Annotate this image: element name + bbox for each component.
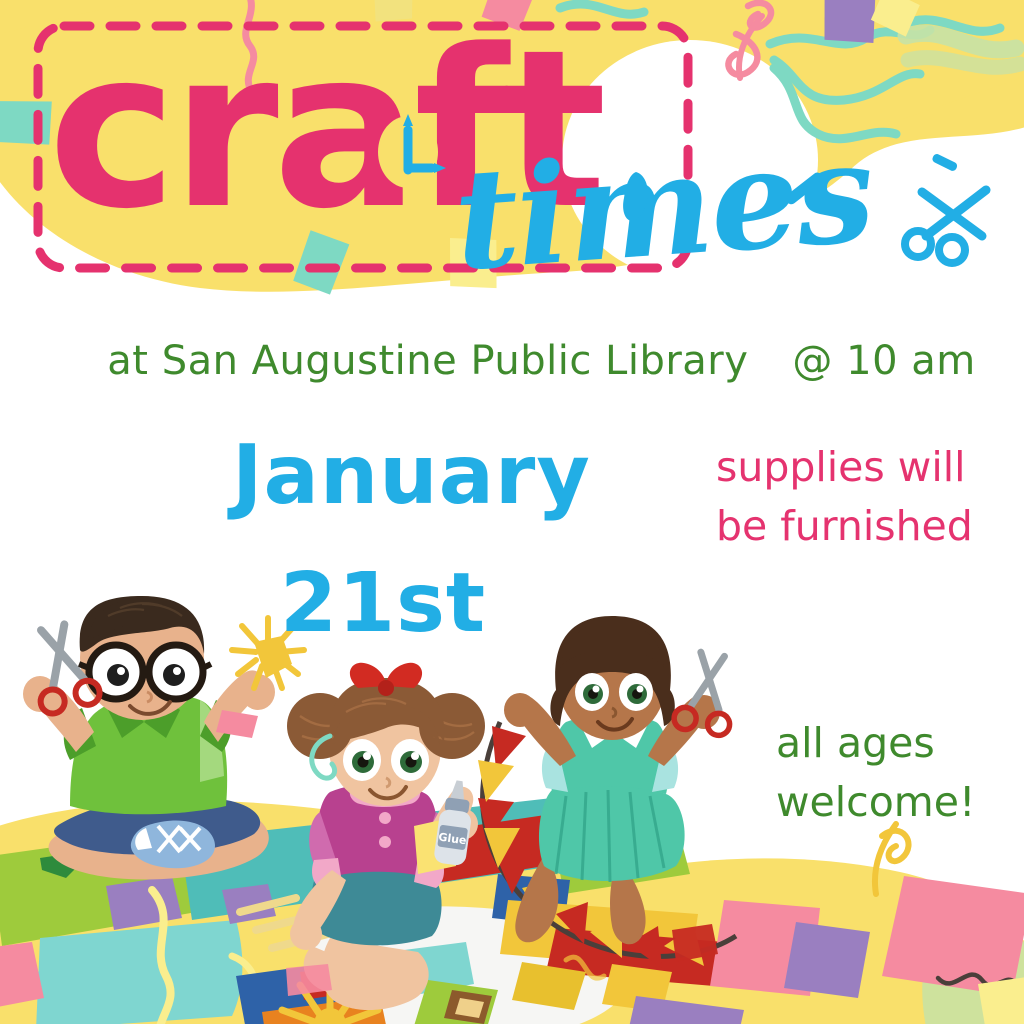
- headline-icons: [0, 0, 1024, 1024]
- scissors-icon: [905, 190, 986, 263]
- clock-hands-icon: [378, 114, 446, 188]
- craft-time-flyer: Glue: [0, 0, 1024, 1024]
